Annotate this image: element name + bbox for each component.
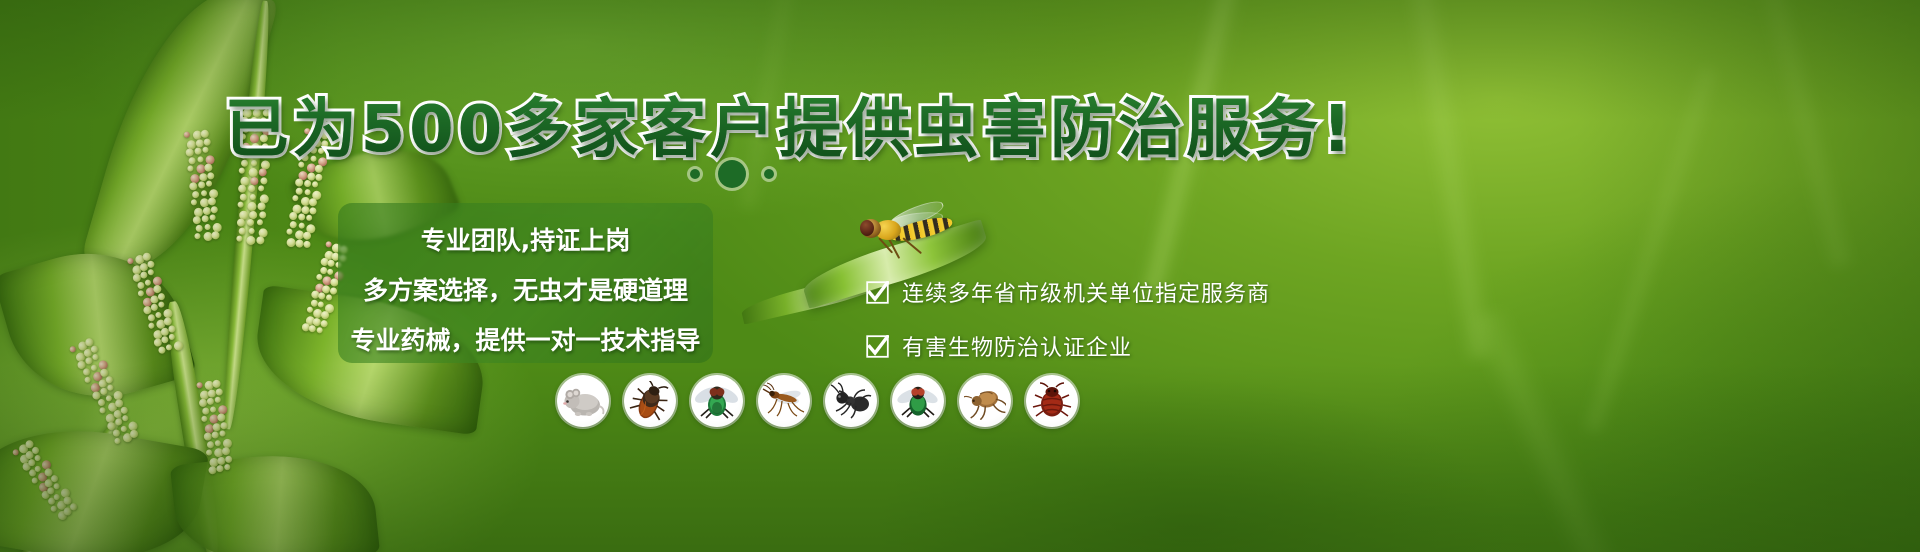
decor-dots: [690, 160, 774, 188]
checkbox-checked-icon: [866, 335, 889, 358]
feature-line-2: 多方案选择，无虫才是硬道理: [338, 271, 713, 307]
feature-line-3: 专业药械，提供一对一技术指导: [338, 321, 713, 357]
greenfly-icon[interactable]: [892, 375, 944, 427]
pest-icon-row: [557, 375, 1078, 427]
blowfly-icon[interactable]: [691, 375, 743, 427]
feature-line-1: 专业团队,持证上岗: [338, 221, 713, 257]
feature-callout-box: 专业团队,持证上岗 多方案选择，无虫才是硬道理 专业药械，提供一对一技术指导: [338, 203, 713, 363]
list-item: 有害生物防治认证企业: [866, 330, 1426, 362]
credential-list: 连续多年省市级机关单位指定服务商 有害生物防治认证企业: [866, 276, 1426, 384]
bedbug-icon[interactable]: [1026, 375, 1078, 427]
list-item-label: 连续多年省市级机关单位指定服务商: [902, 276, 1270, 308]
pest-control-banner: 已为500多家客户提供虫害防治服务! 已为500多家客户提供虫害防治服务! 专业…: [0, 0, 1920, 552]
flea-icon[interactable]: [959, 375, 1011, 427]
mouse-icon[interactable]: [557, 375, 609, 427]
dot-small-icon: [690, 169, 700, 179]
checkbox-checked-icon: [866, 281, 889, 304]
page-title: 已为500多家客户提供虫害防治服务!: [0, 78, 1580, 170]
list-item-label: 有害生物防治认证企业: [902, 330, 1132, 362]
mosquito-icon[interactable]: [758, 375, 810, 427]
dot-large-icon: [718, 160, 746, 188]
dot-small-icon: [764, 169, 774, 179]
list-item: 连续多年省市级机关单位指定服务商: [866, 276, 1426, 308]
ant-icon[interactable]: [825, 375, 877, 427]
cockroach-icon[interactable]: [624, 375, 676, 427]
